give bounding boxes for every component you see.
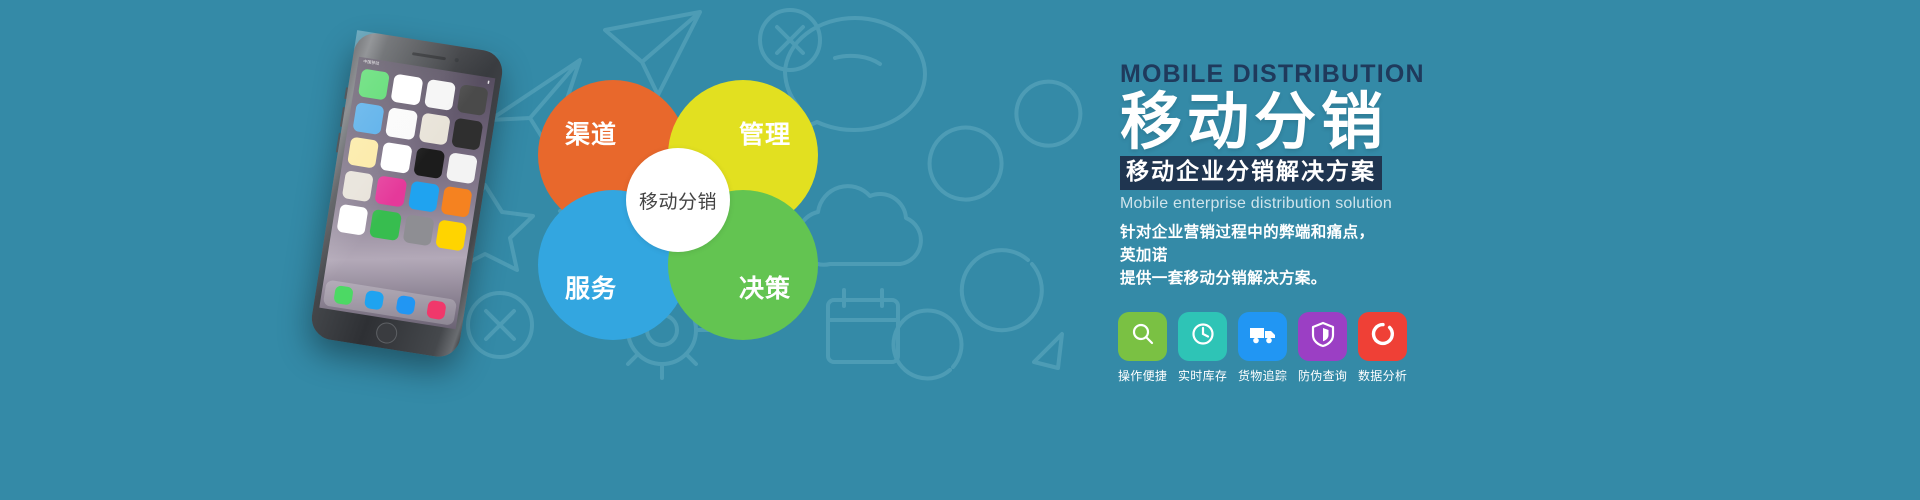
app-icon[interactable] [395, 295, 416, 316]
app-icon[interactable] [402, 214, 434, 246]
subtitle-english: Mobile enterprise distribution solution [1120, 195, 1540, 213]
subtitle-bar: 移动企业分销解决方案 [1120, 156, 1382, 189]
app-icon[interactable] [418, 113, 450, 145]
home-screen-app-grid[interactable] [331, 65, 494, 253]
app-icon[interactable] [333, 285, 354, 306]
feature-item-tracking[interactable]: 货物追踪 [1238, 312, 1287, 384]
battery-icon: ▮ [487, 79, 490, 84]
iphone-device: 中国移动 ▮ [309, 30, 506, 360]
refresh-circle-icon [1370, 321, 1396, 352]
app-icon[interactable] [424, 79, 456, 111]
page-title: 移动分销 [1120, 91, 1540, 154]
app-icon[interactable] [342, 170, 374, 202]
carrier-label: 中国移动 [363, 59, 380, 67]
venn-segment-label: 渠道 [565, 115, 617, 151]
feature-tile[interactable] [1298, 312, 1347, 361]
feature-label: 货物追踪 [1238, 367, 1287, 384]
app-icon[interactable] [391, 74, 423, 106]
magnifier-icon [1130, 321, 1156, 352]
feature-list: 操作便捷 实时库存 [1118, 312, 1407, 384]
clock-icon [1190, 321, 1216, 352]
app-icon[interactable] [426, 300, 447, 321]
description-line-1: 针对企业营销过程中的弊端和痛点，英加诺 [1120, 221, 1390, 268]
feature-tile[interactable] [1118, 312, 1167, 361]
shield-icon [1310, 321, 1336, 353]
app-icon[interactable] [407, 180, 439, 212]
venn-segment-label: 决策 [739, 269, 791, 305]
venn-segment-label: 管理 [739, 115, 791, 151]
feature-tile[interactable] [1238, 312, 1287, 361]
promo-banner: 中国移动 ▮ [0, 0, 1920, 500]
app-icon[interactable] [375, 175, 407, 207]
feature-item-inventory[interactable]: 实时库存 [1178, 312, 1227, 384]
feature-label: 数据分析 [1358, 367, 1407, 384]
venn-center-label: 移动分销 [626, 148, 730, 252]
feature-item-anticounterfeit[interactable]: 防伪查询 [1298, 312, 1347, 384]
truck-icon [1248, 321, 1278, 352]
feature-item-analytics[interactable]: 数据分析 [1358, 312, 1407, 384]
copy-block: MOBILE DISTRIBUTION 移动分销 移动企业分销解决方案 Mobi… [1120, 62, 1540, 290]
description-line-2: 提供一套移动分销解决方案。 [1120, 267, 1390, 290]
feature-label: 操作便捷 [1118, 367, 1167, 384]
app-icon[interactable] [451, 118, 483, 150]
app-icon[interactable] [380, 141, 412, 173]
venn-segment-label: 服务 [565, 269, 617, 305]
app-icon[interactable] [446, 152, 478, 184]
app-icon[interactable] [364, 290, 385, 311]
description-text: 针对企业营销过程中的弊端和痛点，英加诺 提供一套移动分销解决方案。 [1120, 221, 1390, 291]
app-icon[interactable] [336, 204, 368, 236]
feature-tile[interactable] [1358, 312, 1407, 361]
app-icon[interactable] [369, 209, 401, 241]
kicker-text: MOBILE DISTRIBUTION [1120, 62, 1540, 87]
feature-label: 实时库存 [1178, 367, 1227, 384]
feature-label: 防伪查询 [1298, 367, 1347, 384]
venn-diagram: 渠道 管理 服务 决策 移动分销 [538, 80, 838, 340]
feature-tile[interactable] [1178, 312, 1227, 361]
phone-mockup: 中国移动 ▮ [322, 30, 532, 410]
app-icon[interactable] [385, 107, 417, 139]
app-icon[interactable] [347, 136, 379, 168]
app-icon[interactable] [352, 102, 384, 134]
app-icon[interactable] [435, 219, 467, 251]
app-icon[interactable] [456, 84, 488, 116]
feature-item-search[interactable]: 操作便捷 [1118, 312, 1167, 384]
app-icon[interactable] [413, 147, 445, 179]
app-icon[interactable] [440, 186, 472, 218]
app-icon[interactable] [358, 68, 390, 100]
